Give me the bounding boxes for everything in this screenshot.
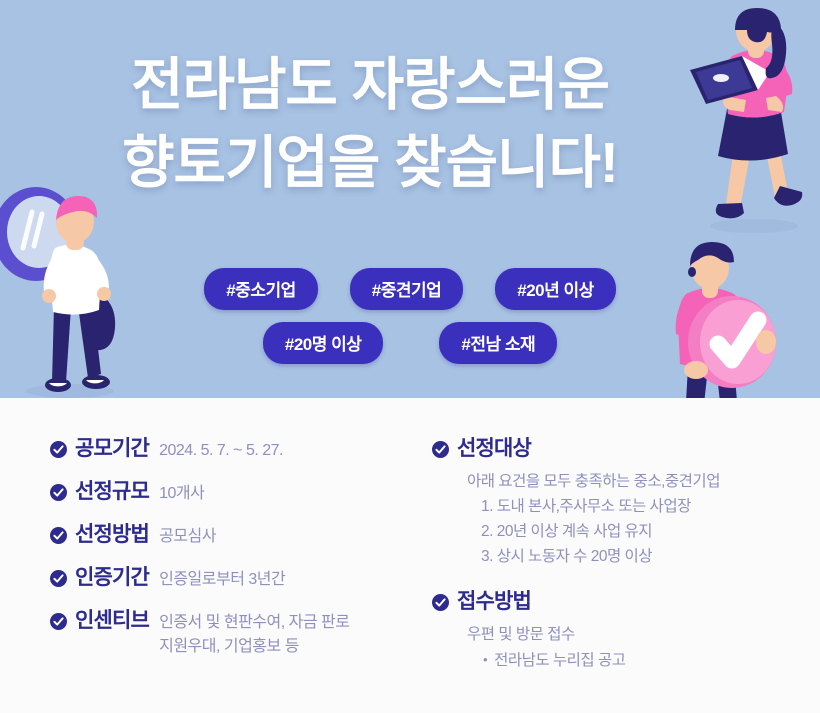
detail-value-line-2: 지원우대, 기업홍보 등 <box>159 635 349 659</box>
details-right-column: 선정대상 아래 요건을 모두 충족하는 중소,중견기업 1. 도내 본사,주사무… <box>432 436 792 673</box>
detail-row-selection-scale: 선정규모 10개사 <box>50 479 410 506</box>
detail-label: 인센티브 <box>75 608 149 634</box>
detail-value: 2024. 5. 7. ~ 5. 27. <box>159 439 283 463</box>
hashtag-pill[interactable]: #중견기업 <box>350 268 464 310</box>
check-circle-icon <box>432 441 449 458</box>
section-intro-text: 우편 및 방문 접수 <box>467 622 792 647</box>
hashtag-pill[interactable]: #20년 이상 <box>495 268 616 310</box>
section-content: 아래 요건을 모두 충족하는 중소,중견기업 1. 도내 본사,주사무소 또는 … <box>467 469 792 569</box>
detail-label: 선정규모 <box>75 479 149 505</box>
hashtag-pill[interactable]: #전남 소재 <box>439 322 557 364</box>
detail-value: 인증서 및 현판수여, 자금 판로 지원우대, 기업홍보 등 <box>159 611 349 659</box>
detail-value-line-1: 인증서 및 현판수여, 자금 판로 <box>159 611 349 635</box>
poster-title: 전라남도 자랑스러운 향토기업을 찾습니다! <box>0 46 740 202</box>
check-circle-icon <box>432 594 449 611</box>
section-intro-text: 아래 요건을 모두 충족하는 중소,중견기업 <box>467 469 792 494</box>
criteria-item: 2. 20년 이상 계속 사업 유지 <box>481 519 792 544</box>
check-circle-icon <box>50 441 67 458</box>
application-method-section: 접수방법 우편 및 방문 접수 전라남도 누리집 공고 <box>432 589 792 673</box>
detail-row-incentive: 인센티브 인증서 및 현판수여, 자금 판로 지원우대, 기업홍보 등 <box>50 608 410 659</box>
section-title: 선정대상 <box>457 436 531 462</box>
detail-label: 선정방법 <box>75 522 149 548</box>
man-holding-checkmark-illustration <box>662 238 782 398</box>
hashtag-pill[interactable]: #중소기업 <box>204 268 318 310</box>
check-circle-icon <box>50 527 67 544</box>
check-circle-icon <box>50 570 67 587</box>
detail-label: 인증기간 <box>75 565 149 591</box>
detail-label: 공모기간 <box>75 436 149 462</box>
hashtag-pill[interactable]: #20명 이상 <box>263 322 384 364</box>
criteria-item: 3. 상시 노동자 수 20명 이상 <box>481 544 792 569</box>
detail-row-selection-method: 선정방법 공모심사 <box>50 522 410 549</box>
detail-value: 공모심사 <box>159 525 216 549</box>
header-banner: 전라남도 자랑스러운 향토기업을 찾습니다! #중소기업 #중견기업 #20년 … <box>0 0 820 398</box>
section-content: 우편 및 방문 접수 전라남도 누리집 공고 <box>467 622 792 673</box>
section-heading: 접수방법 <box>432 589 792 615</box>
details-section: 공모기간 2024. 5. 7. ~ 5. 27. 선정규모 10개사 선정방법… <box>0 398 820 713</box>
check-circle-icon <box>50 613 67 630</box>
section-heading: 선정대상 <box>432 436 792 462</box>
section-title: 접수방법 <box>457 589 531 615</box>
selection-target-section: 선정대상 아래 요건을 모두 충족하는 중소,중견기업 1. 도내 본사,주사무… <box>432 436 792 569</box>
title-line-1: 전라남도 자랑스러운 <box>0 46 740 124</box>
detail-row-certification-period: 인증기간 인증일로부터 3년간 <box>50 565 410 592</box>
detail-row-application-period: 공모기간 2024. 5. 7. ~ 5. 27. <box>50 436 410 463</box>
title-line-2: 향토기업을 찾습니다! <box>0 124 740 202</box>
poster-container: 전라남도 자랑스러운 향토기업을 찾습니다! #중소기업 #중견기업 #20년 … <box>0 0 820 713</box>
check-circle-icon <box>50 484 67 501</box>
section-bullet-item: 전라남도 누리집 공고 <box>483 647 792 673</box>
detail-value: 인증일로부터 3년간 <box>159 568 285 592</box>
detail-value: 10개사 <box>159 482 204 506</box>
details-left-column: 공모기간 2024. 5. 7. ~ 5. 27. 선정규모 10개사 선정방법… <box>50 436 410 675</box>
criteria-item: 1. 도내 본사,주사무소 또는 사업장 <box>481 494 792 519</box>
